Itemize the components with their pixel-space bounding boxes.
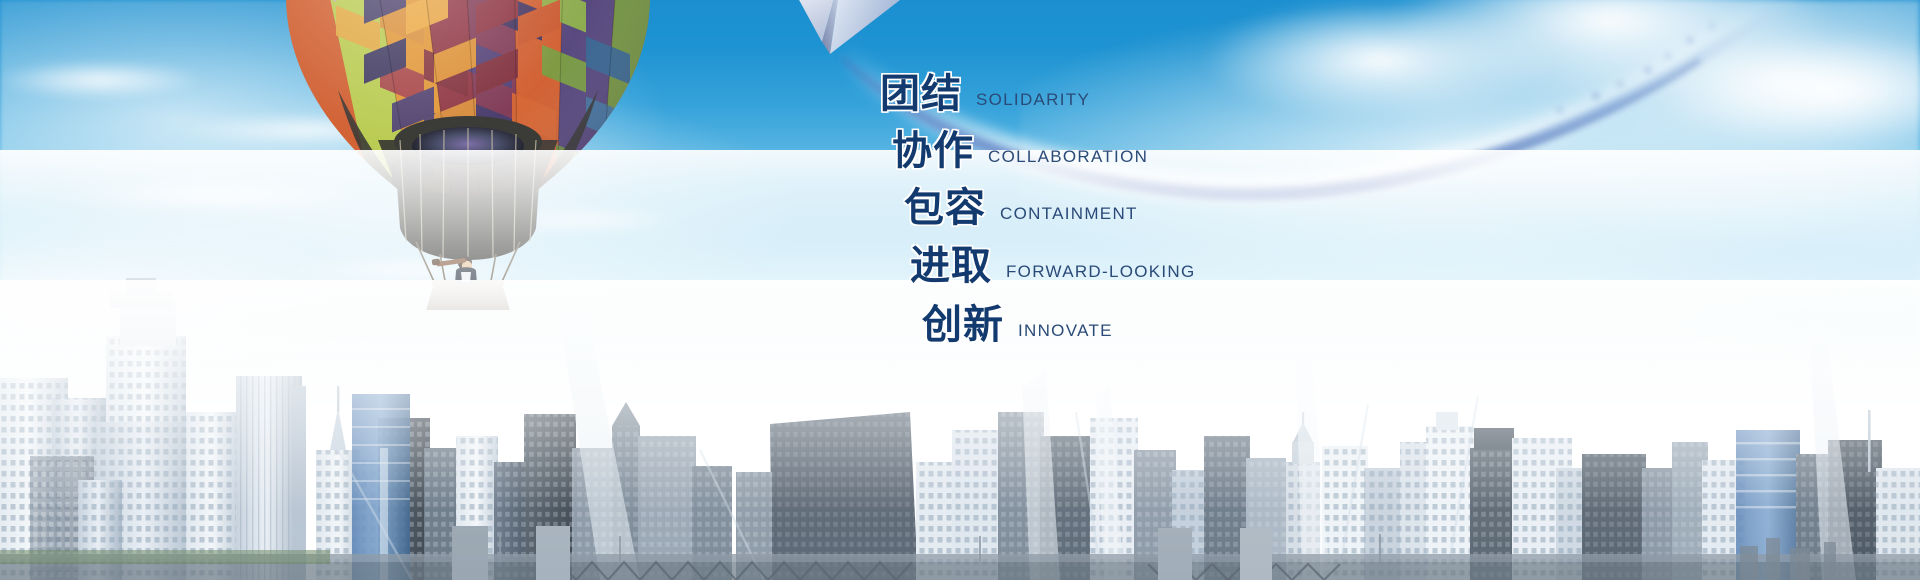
slogan-row: 创新 INNOVATE xyxy=(922,305,1113,345)
slogan-row: 进取 FORWARD-LOOKING xyxy=(910,246,1196,286)
slogan-cn: 团结 xyxy=(880,74,962,114)
slogan-row: 包容 CONTAINMENT xyxy=(904,188,1138,228)
slogan-en: INNOVATE xyxy=(1018,321,1113,341)
hero-banner: 团结 SOLIDARITY 协作 COLLABORATION 包容 CONTAI… xyxy=(0,0,1920,580)
slogan-row: 协作 COLLABORATION xyxy=(892,131,1148,171)
slogan-cn: 协作 xyxy=(892,131,974,171)
slogan-en: SOLIDARITY xyxy=(976,90,1090,110)
slogan-cn: 进取 xyxy=(910,246,992,286)
slogan-row: 团结 SOLIDARITY xyxy=(880,74,1090,114)
slogan-en: CONTAINMENT xyxy=(1000,204,1138,224)
slogan-cn: 包容 xyxy=(904,188,986,228)
slogan-cn: 创新 xyxy=(922,305,1004,345)
slogan-en: COLLABORATION xyxy=(988,147,1148,167)
slogan-en: FORWARD-LOOKING xyxy=(1006,262,1196,282)
slogan-block: 团结 SOLIDARITY 协作 COLLABORATION 包容 CONTAI… xyxy=(860,58,1500,388)
